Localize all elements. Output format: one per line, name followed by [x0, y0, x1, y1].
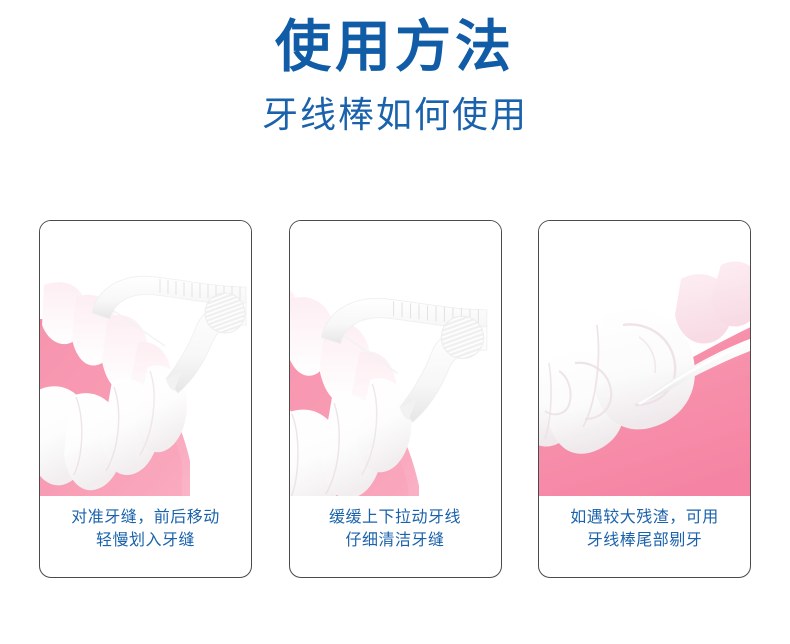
pick-tail-between-molars-illustration — [539, 221, 750, 496]
floss-pick-on-teeth-illustration — [40, 221, 251, 496]
caption-line-1: 如遇较大残渣，可用 — [539, 505, 750, 528]
steps-card-row: 对准牙缝，前后移动 轻慢划入牙缝 — [39, 220, 751, 578]
step-3-illustration — [539, 221, 750, 496]
floss-pick-pulling-illustration — [290, 221, 501, 496]
step-card-1: 对准牙缝，前后移动 轻慢划入牙缝 — [39, 220, 252, 578]
caption-line-2: 轻慢划入牙缝 — [40, 528, 251, 551]
step-card-2: 缓缓上下拉动牙线 仔细清洁牙缝 — [289, 220, 502, 578]
page-root: 使用方法 牙线棒如何使用 — [0, 0, 790, 644]
step-card-3: 如遇较大残渣，可用 牙线棒尾部剔牙 — [538, 220, 751, 578]
step-3-caption: 如遇较大残渣，可用 牙线棒尾部剔牙 — [539, 505, 750, 551]
step-1-caption: 对准牙缝，前后移动 轻慢划入牙缝 — [40, 505, 251, 551]
step-2-caption: 缓缓上下拉动牙线 仔细清洁牙缝 — [290, 505, 501, 551]
caption-line-1: 缓缓上下拉动牙线 — [290, 505, 501, 528]
step-2-illustration — [290, 221, 501, 496]
page-subtitle: 牙线棒如何使用 — [0, 96, 790, 136]
header: 使用方法 牙线棒如何使用 — [0, 0, 790, 136]
caption-line-2: 仔细清洁牙缝 — [290, 528, 501, 551]
caption-line-1: 对准牙缝，前后移动 — [40, 505, 251, 528]
step-1-illustration — [40, 221, 251, 496]
page-title: 使用方法 — [0, 18, 790, 78]
caption-line-2: 牙线棒尾部剔牙 — [539, 528, 750, 551]
